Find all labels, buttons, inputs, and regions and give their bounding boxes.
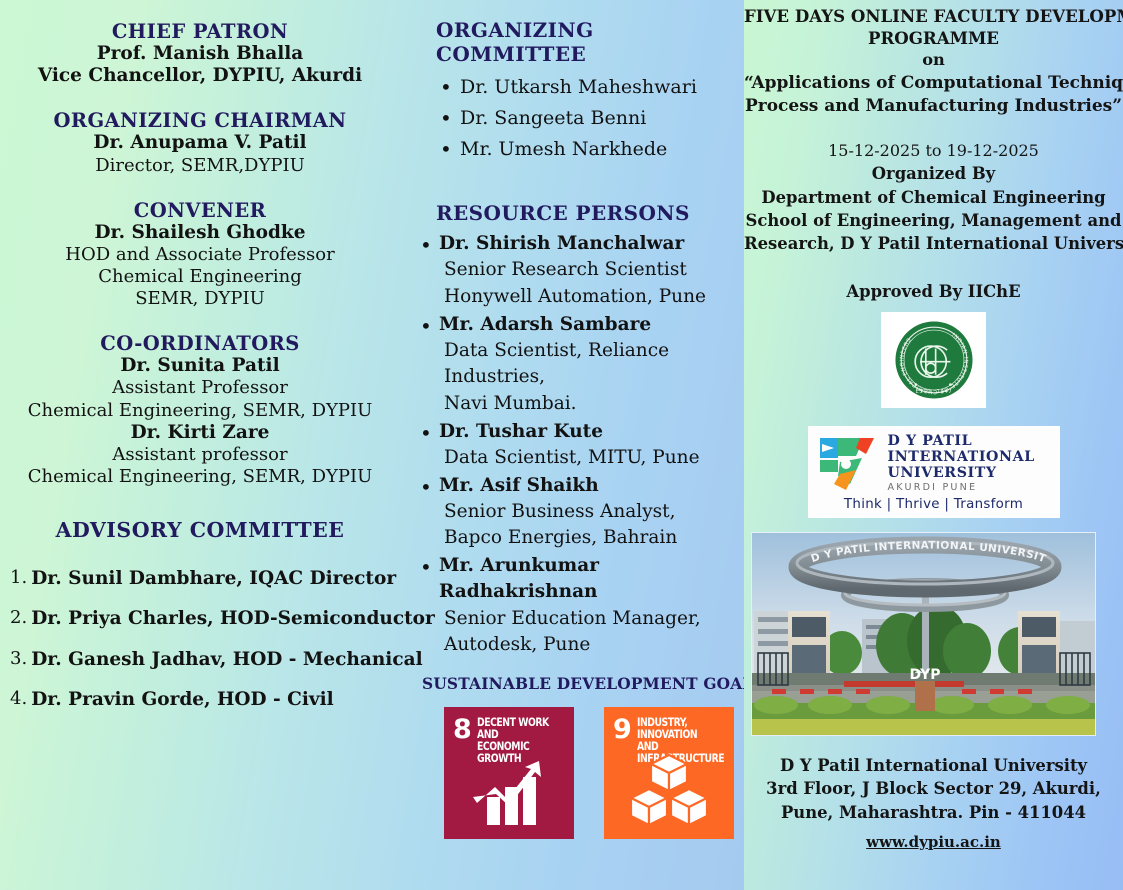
sdg-goal-9-card: 9 INDUSTRY, INNOVATION AND INFRASTRUCTUR… [604,707,734,839]
organizing-committee-heading: ORGANIZING COMMITTEE [418,18,740,66]
list-item: • Mr. Adarsh Sambare Data Scientist, Rel… [418,312,740,418]
advisory-item-label: Dr. Pravin Gorde, HOD - Civil [31,689,334,710]
list-item: • Dr. Shirish Manchalwar Senior Research… [418,231,740,311]
resource-person-name: Dr. Shirish Manchalwar [439,231,740,257]
convener-heading: CONVENER [0,199,400,222]
resource-persons-list: • Dr. Shirish Manchalwar Senior Research… [418,231,740,659]
dypiu-logo-top: D Y PATIL INTERNATIONAL UNIVERSITY AKURD… [816,433,1052,493]
chief-patron-heading: CHIEF PATRON [0,20,400,43]
resource-person-name: Mr. Arunkumar Radhakrishnan [439,553,740,606]
resource-person-detail: Autodesk, Pune [439,632,740,659]
organizing-committee-list: • Dr. Utkarsh Maheshwari • Dr. Sangeeta … [418,72,740,165]
organizing-chairman-designation: Director, SEMR,DYPIU [0,155,400,177]
resource-person-name: Mr. Asif Shaikh [439,473,740,499]
advisory-item-label: Dr. Ganesh Jadhav, HOD - Mechanical [31,649,422,670]
resource-person-detail: Data Scientist, Reliance Industries, [439,338,740,391]
list-item: • Dr. Tushar Kute Data Scientist, MITU, … [418,419,740,472]
advisory-item-number: 3. [10,649,31,670]
iiche-logo-box: INDIAN INSTITUTE OF CHEMICAL ENGINEERS E… [881,312,986,408]
dypiu-wordmark: D Y PATIL INTERNATIONAL UNIVERSITY AKURD… [888,433,1035,493]
resource-column: ORGANIZING COMMITTEE • Dr. Utkarsh Mahes… [400,0,744,890]
coordinator-2-name: Dr. Kirti Zare [0,422,400,444]
sdg-goal-8-label-line1: DECENT WORK AND [477,716,549,741]
dypiu-name-line-2: INTERNATIONAL [888,449,1035,465]
stacked-cubes-icon [604,753,734,831]
bullet-icon: • [420,232,432,259]
organizing-member-label: Dr. Utkarsh Maheshwari [460,72,697,103]
list-item: 2. Dr. Priya Charles, HOD-Semiconductor [10,608,400,629]
organizer-line-3: Research, D Y Patil International Univer… [744,232,1123,255]
organizing-member-label: Mr. Umesh Narkhede [460,134,667,165]
chief-patron-designation: Vice Chancellor, DYPIU, Akurdi [0,65,400,87]
programme-topic-line-2: Process and Manufacturing Industries” [744,95,1123,118]
committee-column: CHIEF PATRON Prof. Manish Bhalla Vice Ch… [0,0,400,890]
coordinator-2-line-1: Assistant professor [0,444,400,466]
sdg-goal-9-label-line1: INDUSTRY, INNOVATION [637,716,697,741]
list-item: • Dr. Utkarsh Maheshwari [440,72,740,103]
sdg-section-heading: SUSTAINABLE DEVELOPMENT GOALS MAPPED [418,675,740,693]
bullet-icon: • [420,420,432,447]
list-item: • Mr. Arunkumar Radhakrishnan Senior Edu… [418,553,740,659]
left-gradient-panel: CHIEF PATRON Prof. Manish Bhalla Vice Ch… [0,0,744,890]
chief-patron-name: Prof. Manish Bhalla [0,43,400,65]
bullet-icon: • [420,554,432,581]
resource-person-detail: Senior Research Scientist [439,257,740,284]
resource-person-detail: Navi Mumbai. [439,391,740,418]
sdg-goal-8-card: 8 DECENT WORK AND ECONOMIC GROWTH [444,707,574,839]
bullet-icon: • [420,474,432,501]
advisory-committee-heading: ADVISORY COMMITTEE [0,518,400,542]
coordinator-1-name: Dr. Sunita Patil [0,355,400,377]
address-line-3: Pune, Maharashtra. Pin - 411044 [744,801,1123,825]
growth-chart-arrow-icon [444,759,574,831]
address-line-1: D Y Patil International University [744,754,1123,778]
programme-title-line-1: FIVE DAYS ONLINE FACULTY DEVELOPMENT [744,5,1123,27]
resource-person-name: Dr. Tushar Kute [439,419,740,445]
resource-person-detail: Senior Education Manager, [439,606,740,633]
convener-line-1: HOD and Associate Professor [0,244,400,266]
advisory-item-label: Dr. Priya Charles, HOD-Semiconductor [31,608,435,629]
iiche-seal-logo: INDIAN INSTITUTE OF CHEMICAL ENGINEERS E… [893,319,975,401]
convener-line-3: SEMR, DYPIU [0,288,400,310]
sdg-goal-8-number: 8 [453,717,477,742]
list-item: 3. Dr. Ganesh Jadhav, HOD - Mechanical [10,649,400,670]
list-item: 1. Dr. Sunil Dambhare, IQAC Director [10,568,400,589]
advisory-item-number: 4. [10,689,31,710]
right-gradient-panel: FIVE DAYS ONLINE FACULTY DEVELOPMENT PRO… [744,0,1123,890]
website-link[interactable]: www.dypiu.ac.in [866,833,1001,851]
bullet-icon: • [440,134,460,165]
coordinator-1-line-2: Chemical Engineering, SEMR, DYPIU [0,400,400,422]
advisory-item-number: 1. [10,568,31,589]
programme-on-label: on [744,49,1123,72]
coordinator-2-line-2: Chemical Engineering, SEMR, DYPIU [0,466,400,488]
resource-person-name: Mr. Adarsh Sambare [439,312,740,338]
sdg-goal-8-header: 8 DECENT WORK AND ECONOMIC GROWTH [444,707,574,765]
svg-text:DYP: DYP [909,667,940,683]
dypiu-name-line-4: AKURDI PUNE [888,481,1035,493]
list-item: • Mr. Asif Shaikh Senior Business Analys… [418,473,740,553]
poster-root: CHIEF PATRON Prof. Manish Bhalla Vice Ch… [0,0,1123,890]
list-item: • Mr. Umesh Narkhede [440,134,740,165]
bullet-icon: • [420,313,432,340]
dypiu-name-line-3: UNIVERSITY [888,465,1035,481]
sdg-goal-8-label: DECENT WORK AND ECONOMIC GROWTH [477,717,561,765]
address-line-2: 3rd Floor, J Block Sector 29, Akurdi, [744,777,1123,801]
list-item: 4. Dr. Pravin Gorde, HOD - Civil [10,689,400,710]
organized-by-label: Organized By [744,162,1123,185]
convener-name: Dr. Shailesh Ghodke [0,222,400,244]
dypiu-name-line-1: D Y PATIL [888,433,1035,449]
resource-person-detail: Data Scientist, MITU, Pune [439,445,740,472]
advisory-committee-list: 1. Dr. Sunil Dambhare, IQAC Director 2. … [10,568,400,710]
advisory-item-number: 2. [10,608,31,629]
programme-topic-line-1: “Applications of Computational Technique… [744,72,1123,95]
organizer-line-1: Department of Chemical Engineering [744,186,1123,209]
organizing-member-label: Dr. Sangeeta Benni [460,103,646,134]
dypiu-logo-box: D Y PATIL INTERNATIONAL UNIVERSITY AKURD… [808,426,1060,518]
resource-persons-heading: RESOURCE PERSONS [418,201,740,225]
resource-person-detail: Bapco Energies, Bahrain [439,525,740,552]
sdg-goal-9-number: 9 [613,717,637,742]
approved-by-label: Approved By IIChE [744,282,1123,301]
resource-person-detail: Senior Business Analyst, [439,499,740,526]
convener-line-2: Chemical Engineering [0,266,400,288]
advisory-item-label: Dr. Sunil Dambhare, IQAC Director [31,568,396,589]
bullet-icon: • [440,72,460,103]
dypiu-tagline: Think | Thrive | Transform [816,492,1052,512]
dypiu-campus-entrance-photo: D Y PATIL INTERNATIONAL UNIVERSITY PUNE [751,532,1096,736]
programme-info-column: FIVE DAYS ONLINE FACULTY DEVELOPMENT PRO… [744,0,1123,851]
coordinators-heading: CO-ORDINATORS [0,332,400,355]
programme-dates: 15-12-2025 to 19-12-2025 [744,140,1123,162]
resource-person-detail: Honywell Automation, Pune [439,284,740,311]
coordinator-1-line-1: Assistant Professor [0,377,400,399]
sdg-logo-row: 8 DECENT WORK AND ECONOMIC GROWTH [418,707,740,839]
organizer-line-2: School of Engineering, Management and [744,209,1123,232]
list-item: • Dr. Sangeeta Benni [440,103,740,134]
dypiu-mark-icon [816,434,878,492]
organizing-chairman-heading: ORGANIZING CHAIRMAN [0,109,400,132]
bullet-icon: • [440,103,460,134]
programme-title-line-2: PROGRAMME [744,27,1123,49]
svg-text:ESTD. 1947: ESTD. 1947 [915,388,952,394]
organizing-chairman-name: Dr. Anupama V. Patil [0,132,400,154]
